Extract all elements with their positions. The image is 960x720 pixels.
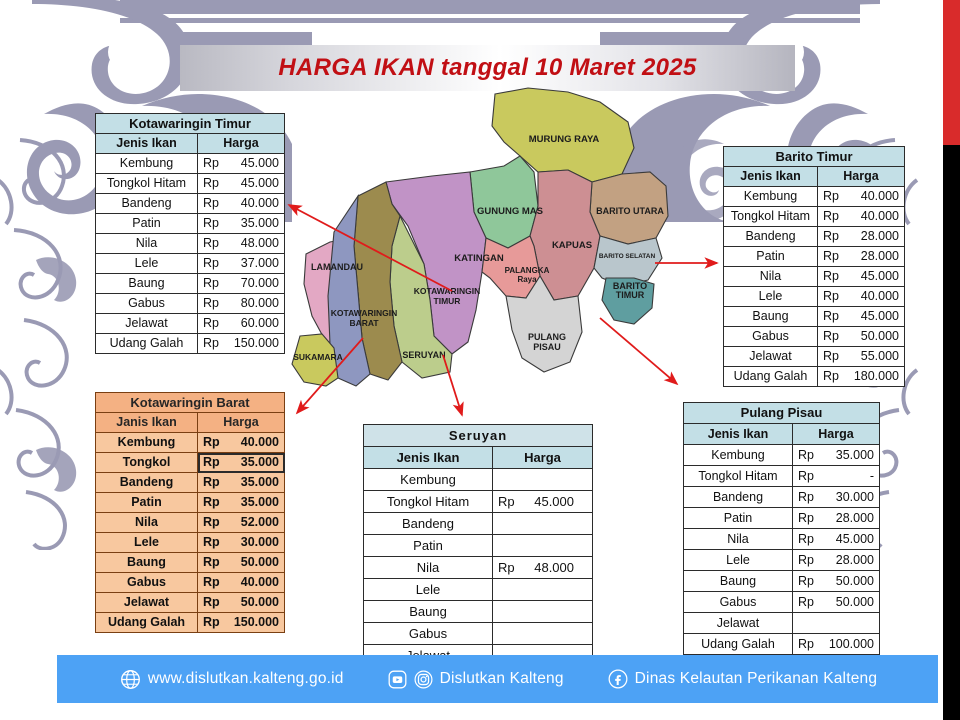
- table-header-row: Jenis IkanHarga: [724, 167, 905, 187]
- youtube-icon[interactable]: [388, 670, 407, 689]
- table-row: BandengRp30.000: [684, 487, 880, 508]
- cell-price: Rp50.000: [198, 593, 285, 613]
- table-row: Tongkol HitamRp40.000: [724, 207, 905, 227]
- table-row: KembungRp40.000: [96, 433, 285, 453]
- ornament-left-side: [0, 120, 100, 550]
- footer-social[interactable]: Dislutkan Kalteng: [388, 670, 564, 689]
- footer-website[interactable]: www.dislutkan.kalteng.go.id: [120, 669, 344, 690]
- table-header-row: Jenis IkanHarga: [364, 447, 593, 469]
- table-row: BaungRp45.000: [724, 307, 905, 327]
- table-row: PatinRp35.000: [96, 214, 285, 234]
- map-container: MURUNG RAYA BARITO UTARA GUNUNG MAS KAPU…: [282, 86, 682, 386]
- table-row: NilaRp45.000: [684, 529, 880, 550]
- table-row: BaungRp50.000: [96, 553, 285, 573]
- cell-price: [493, 623, 593, 645]
- table-header-row: Jenis IkanHarga: [684, 424, 880, 445]
- map-label-lamandau: LAMANDAU: [311, 262, 363, 272]
- cell-fish-name: Kembung: [684, 445, 793, 466]
- cell-price: Rp48.000: [198, 234, 285, 254]
- cell-price: Rp100.000: [793, 634, 880, 655]
- table-row: PatinRp28.000: [684, 508, 880, 529]
- footer-bar: www.dislutkan.kalteng.go.id Dislutkan Ka…: [57, 655, 940, 703]
- table-row: NilaRp48.000: [364, 557, 593, 579]
- cell-price: [493, 579, 593, 601]
- cell-price: Rp80.000: [198, 294, 285, 314]
- table-row: KembungRp40.000: [724, 187, 905, 207]
- cell-fish-name: Jelawat: [96, 593, 198, 613]
- cell-fish-name: Kembung: [364, 469, 493, 491]
- cell-fish-name: Patin: [96, 214, 198, 234]
- cell-fish-name: Udang Galah: [724, 367, 818, 387]
- cell-price: Rp50.000: [793, 571, 880, 592]
- column-header-jenis-ikan: Jenis Ikan: [724, 167, 818, 187]
- column-header-harga: Harga: [793, 424, 880, 445]
- table-row: LeleRp37.000: [96, 254, 285, 274]
- map-label-barito-selatan: BARITO SELATAN: [599, 253, 656, 260]
- column-header-jenis-ikan: Jenis Ikan: [96, 134, 198, 154]
- cell-price: Rp45.000: [198, 174, 285, 194]
- table-row: Udang GalahRp180.000: [724, 367, 905, 387]
- map-label-palangka-raya: PALANGKA: [505, 266, 550, 275]
- globe-icon: [120, 669, 141, 690]
- cell-price: Rp28.000: [818, 247, 905, 267]
- table-row: GabusRp50.000: [684, 592, 880, 613]
- cell-price: Rp40.000: [818, 207, 905, 227]
- cell-fish-name: Bandeng: [364, 513, 493, 535]
- cell-price: [793, 613, 880, 634]
- cell-price: [493, 601, 593, 623]
- cell-price: Rp45.000: [493, 491, 593, 513]
- table-row: NilaRp45.000: [724, 267, 905, 287]
- cell-fish-name: Patin: [364, 535, 493, 557]
- cell-price: [493, 513, 593, 535]
- table-row: Kembung: [364, 469, 593, 491]
- table-row: BandengRp35.000: [96, 473, 285, 493]
- instagram-icon[interactable]: [414, 670, 433, 689]
- cell-price: Rp35.000: [198, 493, 285, 513]
- cell-fish-name: Lele: [684, 550, 793, 571]
- cell-price: Rp30.000: [198, 533, 285, 553]
- map-label-gunung-mas: GUNUNG MAS: [477, 206, 543, 217]
- cell-price: Rp-: [793, 466, 880, 487]
- cell-price: [493, 469, 593, 491]
- map-label-palangka-raya-2: Raya: [517, 275, 537, 284]
- cell-price: Rp45.000: [818, 307, 905, 327]
- kalteng-map-svg: MURUNG RAYA BARITO UTARA GUNUNG MAS KAPU…: [282, 86, 682, 386]
- cell-price: Rp48.000: [493, 557, 593, 579]
- cell-price: Rp180.000: [818, 367, 905, 387]
- table-row: Jelawat: [684, 613, 880, 634]
- cell-fish-name: Udang Galah: [96, 613, 198, 633]
- cell-fish-name: Gabus: [364, 623, 493, 645]
- cell-fish-name: Lele: [724, 287, 818, 307]
- table-row: BandengRp40.000: [96, 194, 285, 214]
- cell-fish-name: Nila: [96, 513, 198, 533]
- map-label-kotawaringin-barat-2: BARAT: [349, 318, 379, 328]
- cell-fish-name: Kembung: [96, 154, 198, 174]
- table-row: Udang GalahRp100.000: [684, 634, 880, 655]
- cell-price: Rp37.000: [198, 254, 285, 274]
- map-label-kapuas: KAPUAS: [552, 240, 592, 251]
- cell-fish-name: Patin: [96, 493, 198, 513]
- cell-fish-name: Gabus: [724, 327, 818, 347]
- map-label-pulang-pisau-2: PISAU: [533, 342, 561, 352]
- cell-fish-name: Bandeng: [96, 473, 198, 493]
- column-header-harga: Harga: [493, 447, 593, 469]
- cell-price: Rp52.000: [198, 513, 285, 533]
- map-label-seruyan: SERUYAN: [402, 350, 445, 360]
- cell-fish-name: Udang Galah: [684, 634, 793, 655]
- facebook-icon[interactable]: [608, 669, 628, 689]
- cell-price: Rp40.000: [198, 194, 285, 214]
- table-title: Seruyan: [364, 425, 593, 447]
- table-row: Lele: [364, 579, 593, 601]
- footer-social-label: Dislutkan Kalteng: [440, 670, 564, 688]
- map-label-barito-timur-2: TIMUR: [616, 290, 645, 300]
- cell-fish-name: Baung: [684, 571, 793, 592]
- column-header-harga: Harga: [198, 413, 285, 433]
- table-header-row: Janis IkanHarga: [96, 413, 285, 433]
- table-row: BandengRp28.000: [724, 227, 905, 247]
- footer-facebook[interactable]: Dinas Kelautan Perikanan Kalteng: [608, 669, 878, 689]
- cell-price: Rp28.000: [793, 550, 880, 571]
- map-label-pulang-pisau: PULANG: [528, 332, 566, 342]
- cell-fish-name: Tongkol Hitam: [724, 207, 818, 227]
- table-row: GabusRp40.000: [96, 573, 285, 593]
- cell-price: Rp55.000: [818, 347, 905, 367]
- column-header-jenis-ikan: Jenis Ikan: [684, 424, 793, 445]
- cell-price: Rp50.000: [793, 592, 880, 613]
- table-row: JelawatRp50.000: [96, 593, 285, 613]
- edge-bar-black: [943, 145, 960, 720]
- map-label-kotawaringin-barat: KOTAWARINGIN: [331, 308, 397, 318]
- table-row: Bandeng: [364, 513, 593, 535]
- table-row: LeleRp28.000: [684, 550, 880, 571]
- table-title-row: Barito Timur: [724, 147, 905, 167]
- cell-fish-name: Lele: [96, 254, 198, 274]
- table-header-row: Jenis IkanHarga: [96, 134, 285, 154]
- cell-price: Rp30.000: [793, 487, 880, 508]
- cell-price: Rp35.000: [793, 445, 880, 466]
- cell-price: [493, 535, 593, 557]
- cell-fish-name: Lele: [364, 579, 493, 601]
- table-row: JelawatRp60.000: [96, 314, 285, 334]
- cell-fish-name: Tongkol Hitam: [684, 466, 793, 487]
- cell-fish-name: Nila: [724, 267, 818, 287]
- price-table-pulang-pisau: Pulang PisauJenis IkanHargaKembungRp35.0…: [683, 402, 880, 655]
- cell-price: Rp45.000: [793, 529, 880, 550]
- cell-fish-name: Gabus: [96, 294, 198, 314]
- cell-fish-name: Nila: [364, 557, 493, 579]
- cell-fish-name: Jelawat: [724, 347, 818, 367]
- table-title-row: Kotawaringin Timur: [96, 114, 285, 134]
- footer-facebook-label: Dinas Kelautan Perikanan Kalteng: [635, 670, 878, 688]
- cell-fish-name: Bandeng: [96, 194, 198, 214]
- table-row: PatinRp35.000: [96, 493, 285, 513]
- cell-price: Rp28.000: [793, 508, 880, 529]
- table-row: Patin: [364, 535, 593, 557]
- table-row: KembungRp45.000: [96, 154, 285, 174]
- cell-fish-name: Baung: [724, 307, 818, 327]
- title-banner: HARGA IKAN tanggal 10 Maret 2025: [180, 45, 795, 91]
- cell-fish-name: Baung: [96, 274, 198, 294]
- table-row: Udang GalahRp150.000: [96, 613, 285, 633]
- table-row: Tongkol HitamRp45.000: [364, 491, 593, 513]
- cell-price: Rp40.000: [198, 573, 285, 593]
- table-title-row: Seruyan: [364, 425, 593, 447]
- cell-price: Rp50.000: [818, 327, 905, 347]
- cell-fish-name: Patin: [724, 247, 818, 267]
- cell-fish-name: Lele: [96, 533, 198, 553]
- column-header-jenis-ikan: Jenis Ikan: [364, 447, 493, 469]
- cell-fish-name: Baung: [96, 553, 198, 573]
- cell-price: Rp35.000: [198, 453, 285, 473]
- table-title: Kotawaringin Timur: [96, 114, 285, 134]
- cell-price: Rp50.000: [198, 553, 285, 573]
- cell-fish-name: Tongkol Hitam: [96, 174, 198, 194]
- map-label-kotawaringin-timur-2: TIMUR: [434, 296, 461, 306]
- cell-fish-name: Bandeng: [724, 227, 818, 247]
- table-row: BaungRp50.000: [684, 571, 880, 592]
- table-row: GabusRp50.000: [724, 327, 905, 347]
- cell-fish-name: Jelawat: [96, 314, 198, 334]
- cell-fish-name: Bandeng: [684, 487, 793, 508]
- map-label-murung-raya: MURUNG RAYA: [529, 134, 600, 145]
- table-title: Pulang Pisau: [684, 403, 880, 424]
- cell-fish-name: Nila: [684, 529, 793, 550]
- column-header-harga: Harga: [818, 167, 905, 187]
- slide-canvas: HARGA IKAN tanggal 10 Maret 2025: [0, 0, 960, 720]
- cell-fish-name: Gabus: [96, 573, 198, 593]
- table-row: BaungRp70.000: [96, 274, 285, 294]
- cell-price: Rp45.000: [818, 267, 905, 287]
- cell-price: Rp28.000: [818, 227, 905, 247]
- cell-fish-name: Udang Galah: [96, 334, 198, 354]
- table-row: LeleRp40.000: [724, 287, 905, 307]
- table-row: Tongkol HitamRp-: [684, 466, 880, 487]
- price-table-kotawaringin-barat: Kotawaringin BaratJanis IkanHargaKembung…: [95, 392, 285, 633]
- cell-price: Rp35.000: [198, 473, 285, 493]
- cell-fish-name: Kembung: [724, 187, 818, 207]
- cell-price: Rp40.000: [818, 187, 905, 207]
- cell-fish-name: Baung: [364, 601, 493, 623]
- price-table-kotawaringin-timur: Kotawaringin TimurJenis IkanHargaKembung…: [95, 113, 285, 354]
- column-header-harga: Harga: [198, 134, 285, 154]
- map-label-kotawaringin-timur: KOTAWARINGIN: [414, 286, 480, 296]
- table-row: GabusRp80.000: [96, 294, 285, 314]
- table-title: Barito Timur: [724, 147, 905, 167]
- footer-website-label: www.dislutkan.kalteng.go.id: [148, 670, 344, 688]
- page-title: HARGA IKAN tanggal 10 Maret 2025: [278, 54, 696, 82]
- cell-fish-name: Patin: [684, 508, 793, 529]
- table-row: NilaRp52.000: [96, 513, 285, 533]
- column-header-jenis-ikan: Janis Ikan: [96, 413, 198, 433]
- table-row: NilaRp48.000: [96, 234, 285, 254]
- cell-fish-name: Tongkol Hitam: [364, 491, 493, 513]
- cell-price: Rp70.000: [198, 274, 285, 294]
- cell-price: Rp150.000: [198, 334, 285, 354]
- map-label-barito-utara: BARITO UTARA: [596, 206, 664, 216]
- map-label-sukamara: SUKAMARA: [293, 352, 343, 362]
- cell-price: Rp40.000: [198, 433, 285, 453]
- cell-price: Rp40.000: [818, 287, 905, 307]
- price-table-barito-timur: Barito TimurJenis IkanHargaKembungRp40.0…: [723, 146, 905, 387]
- table-row: PatinRp28.000: [724, 247, 905, 267]
- table-row: Gabus: [364, 623, 593, 645]
- cell-price: Rp35.000: [198, 214, 285, 234]
- table-row: Tongkol HitamRp45.000: [96, 174, 285, 194]
- cell-fish-name: Tongkol: [96, 453, 198, 473]
- map-label-katingan: KATINGAN: [454, 253, 504, 264]
- table-row: LeleRp30.000: [96, 533, 285, 553]
- cell-fish-name: Jelawat: [684, 613, 793, 634]
- table-row: JelawatRp55.000: [724, 347, 905, 367]
- cell-fish-name: Gabus: [684, 592, 793, 613]
- table-title-row: Pulang Pisau: [684, 403, 880, 424]
- cell-price: Rp150.000: [198, 613, 285, 633]
- table-title: Kotawaringin Barat: [96, 393, 285, 413]
- table-row: TongkolRp35.000: [96, 453, 285, 473]
- table-title-row: Kotawaringin Barat: [96, 393, 285, 413]
- cell-price: Rp45.000: [198, 154, 285, 174]
- table-row: Udang GalahRp150.000: [96, 334, 285, 354]
- table-row: KembungRp35.000: [684, 445, 880, 466]
- cell-fish-name: Kembung: [96, 433, 198, 453]
- edge-bar-red: [943, 0, 960, 145]
- price-table-seruyan: SeruyanJenis IkanHargaKembung Tongkol Hi…: [363, 424, 593, 689]
- table-row: Baung: [364, 601, 593, 623]
- cell-price: Rp60.000: [198, 314, 285, 334]
- cell-fish-name: Nila: [96, 234, 198, 254]
